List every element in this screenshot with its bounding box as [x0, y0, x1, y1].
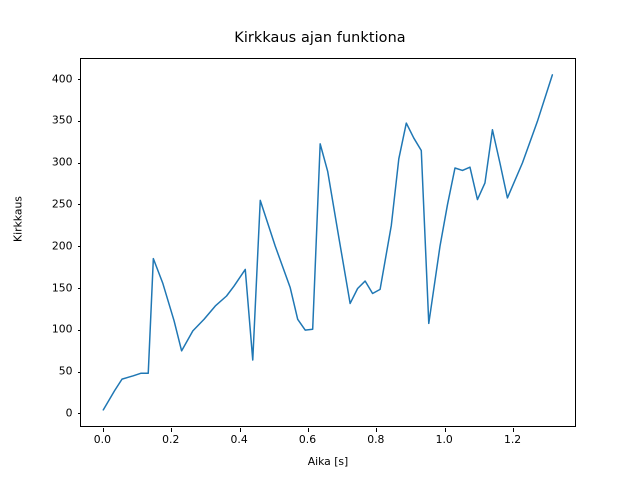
- page-title: Kirkkaus ajan funktiona: [0, 30, 640, 46]
- x-tick-label: 0.0: [94, 433, 111, 446]
- x-tick-mark: [240, 428, 241, 432]
- line-series-kirkkaus: [81, 59, 575, 427]
- x-tick-mark: [445, 428, 446, 432]
- x-tick-mark: [513, 428, 514, 432]
- y-tick-label: 400: [0, 72, 73, 85]
- y-tick-label: 50: [0, 365, 73, 378]
- x-tick-mark: [308, 428, 309, 432]
- y-tick-label: 150: [0, 281, 73, 294]
- data-polyline: [103, 74, 552, 409]
- x-tick-mark: [376, 428, 377, 432]
- y-tick-label: 100: [0, 323, 73, 336]
- plot-axes: [80, 58, 576, 428]
- x-tick-label: 1.2: [504, 433, 521, 446]
- x-tick-label: 0.4: [231, 433, 248, 446]
- x-tick-mark: [103, 428, 104, 432]
- x-tick-label: 0.8: [367, 433, 384, 446]
- y-tick-label: 0: [0, 406, 73, 419]
- x-tick-label: 0.6: [299, 433, 316, 446]
- y-tick-label: 350: [0, 114, 73, 127]
- x-tick-label: 1.0: [436, 433, 453, 446]
- x-axis-label: Aika [s]: [308, 455, 349, 468]
- y-tick-label: 300: [0, 156, 73, 169]
- x-tick-label: 0.2: [162, 433, 179, 446]
- matplotlib-figure: Kirkkaus ajan funktiona 0501001502002503…: [0, 0, 640, 480]
- x-tick-mark: [171, 428, 172, 432]
